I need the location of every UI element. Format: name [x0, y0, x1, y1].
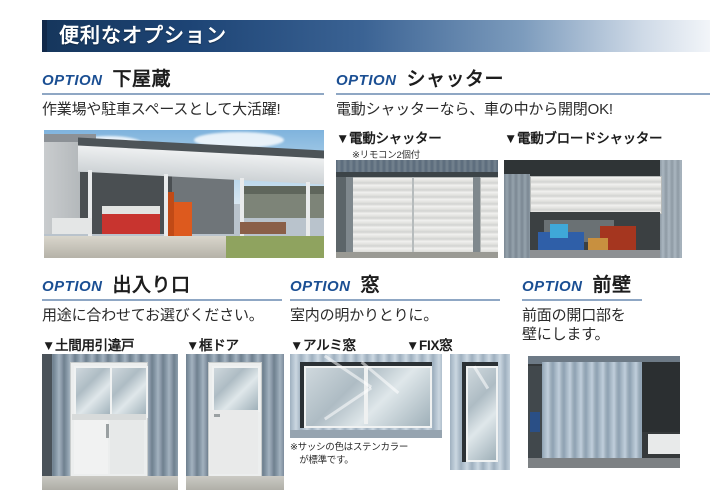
- option-description: 電動シャッターなら、車の中から開閉OK!: [336, 100, 710, 119]
- photo-kamachi-door: [186, 354, 284, 490]
- parked-object: [530, 412, 540, 432]
- caption-sliding-door: ▼土間用引違戸: [42, 334, 134, 354]
- door-glass-right: [110, 366, 148, 418]
- option-description: 用途に合わせてお選びください。: [42, 306, 282, 325]
- farm-equipment-top: [102, 206, 160, 214]
- farm-equipment: [102, 212, 160, 234]
- option-name: 窓: [361, 270, 381, 297]
- caption-electric-shutter: ▼電動シャッター: [336, 127, 441, 147]
- option-heading-entrance: OPTION 出入り口 用途に合わせてお選びください。: [42, 270, 282, 325]
- option-name: 出入り口: [113, 270, 191, 297]
- door-glass-left: [74, 366, 112, 418]
- photo-broad-shutter: [504, 160, 682, 258]
- sill-shadow: [290, 430, 442, 438]
- photo-shitayagura: [44, 130, 324, 258]
- door-panel-left: [74, 420, 108, 474]
- corner-shadow: [42, 354, 52, 490]
- distant-house: [240, 190, 324, 218]
- footnote-sash-color: ※サッシの色はステンカラー が標準です。: [290, 442, 440, 468]
- interior-light-panel: [648, 434, 680, 454]
- option-description: 前面の開口部を 壁にします。: [522, 306, 642, 344]
- apron: [336, 252, 498, 258]
- option-description: 室内の明かりとりに。: [290, 306, 500, 325]
- grass: [226, 236, 324, 258]
- floor: [530, 250, 660, 258]
- banner-accent-bar: [42, 20, 47, 52]
- option-label: OPTION: [290, 278, 351, 295]
- option-label: OPTION: [42, 278, 103, 295]
- option-heading-front-wall: OPTION 前壁 前面の開口部を 壁にします。: [522, 270, 642, 344]
- distant-house-roof: [240, 186, 324, 194]
- option-heading-shitayagura: OPTION 下屋蔵 作業場や駐車スペースとして大活躍!: [42, 64, 324, 119]
- door-panel-right: [110, 420, 144, 474]
- option-label: OPTION: [42, 72, 103, 89]
- option-name: 前壁: [593, 270, 632, 297]
- option-name: 下屋蔵: [113, 64, 172, 91]
- option-underline: [290, 299, 500, 301]
- open-bay: [642, 362, 680, 432]
- option-label: OPTION: [336, 72, 397, 89]
- ground-concrete: [186, 476, 284, 490]
- photo-sliding-door: [42, 354, 178, 490]
- option-name: シャッター: [407, 64, 505, 91]
- option-underline: [336, 93, 710, 95]
- shutter-curtain: [352, 177, 476, 255]
- blue-drum: [550, 224, 568, 238]
- eave-shadow: [504, 160, 682, 176]
- window-glass: [304, 366, 432, 428]
- shutter-guide-rail: [473, 177, 480, 255]
- note-remote-included: ※リモコン2個付: [352, 147, 420, 161]
- parked-vehicle: [52, 218, 92, 234]
- section-banner: 便利なオプション: [42, 20, 710, 52]
- shutter-guide-rail: [346, 177, 353, 255]
- upper-siding: [336, 160, 498, 172]
- front-wall-siding: [542, 362, 642, 468]
- option-heading-window: OPTION 窓 室内の明かりとりに。: [290, 270, 500, 325]
- option-underline: [42, 299, 282, 301]
- door-panel: [210, 410, 258, 474]
- option-label: OPTION: [522, 278, 583, 295]
- door-glass: [212, 366, 260, 412]
- caption-aluminum-window: ▼アルミ窓: [290, 334, 356, 354]
- option-underline: [522, 299, 642, 301]
- right-siding: [660, 160, 682, 258]
- window-mullion: [364, 366, 368, 424]
- shutter-center-seam: [412, 177, 414, 253]
- photo-fix-window: [450, 354, 510, 470]
- left-siding: [504, 174, 530, 258]
- door-handle: [214, 414, 220, 417]
- photo-electric-shutter: [336, 160, 498, 258]
- catalog-page: 便利なオプション OPTION 下屋蔵 作業場や駐車スペースとして大活躍!: [0, 0, 720, 500]
- option-heading-shutter: OPTION シャッター 電動シャッターなら、車の中から開閉OK!: [336, 64, 710, 119]
- photo-aluminum-window: [290, 354, 442, 438]
- stored-goods: [240, 222, 286, 234]
- shutter-curtain-partial: [480, 177, 498, 255]
- option-underline: [42, 93, 324, 95]
- ground-concrete: [42, 476, 178, 490]
- section-title: 便利なオプション: [59, 20, 227, 52]
- ground: [528, 458, 680, 468]
- forklift-mast: [168, 192, 174, 238]
- option-description: 作業場や駐車スペースとして大活躍!: [42, 100, 324, 119]
- photo-front-wall: [528, 356, 680, 468]
- door-handle: [106, 424, 109, 438]
- caption-kamachi-door: ▼框ドア: [186, 334, 239, 354]
- broad-shutter-curtain: [530, 176, 662, 214]
- caption-fix-window: ▼FIX窓: [406, 334, 452, 354]
- caption-broad-shutter: ▼電動ブロードシャッター: [504, 127, 662, 147]
